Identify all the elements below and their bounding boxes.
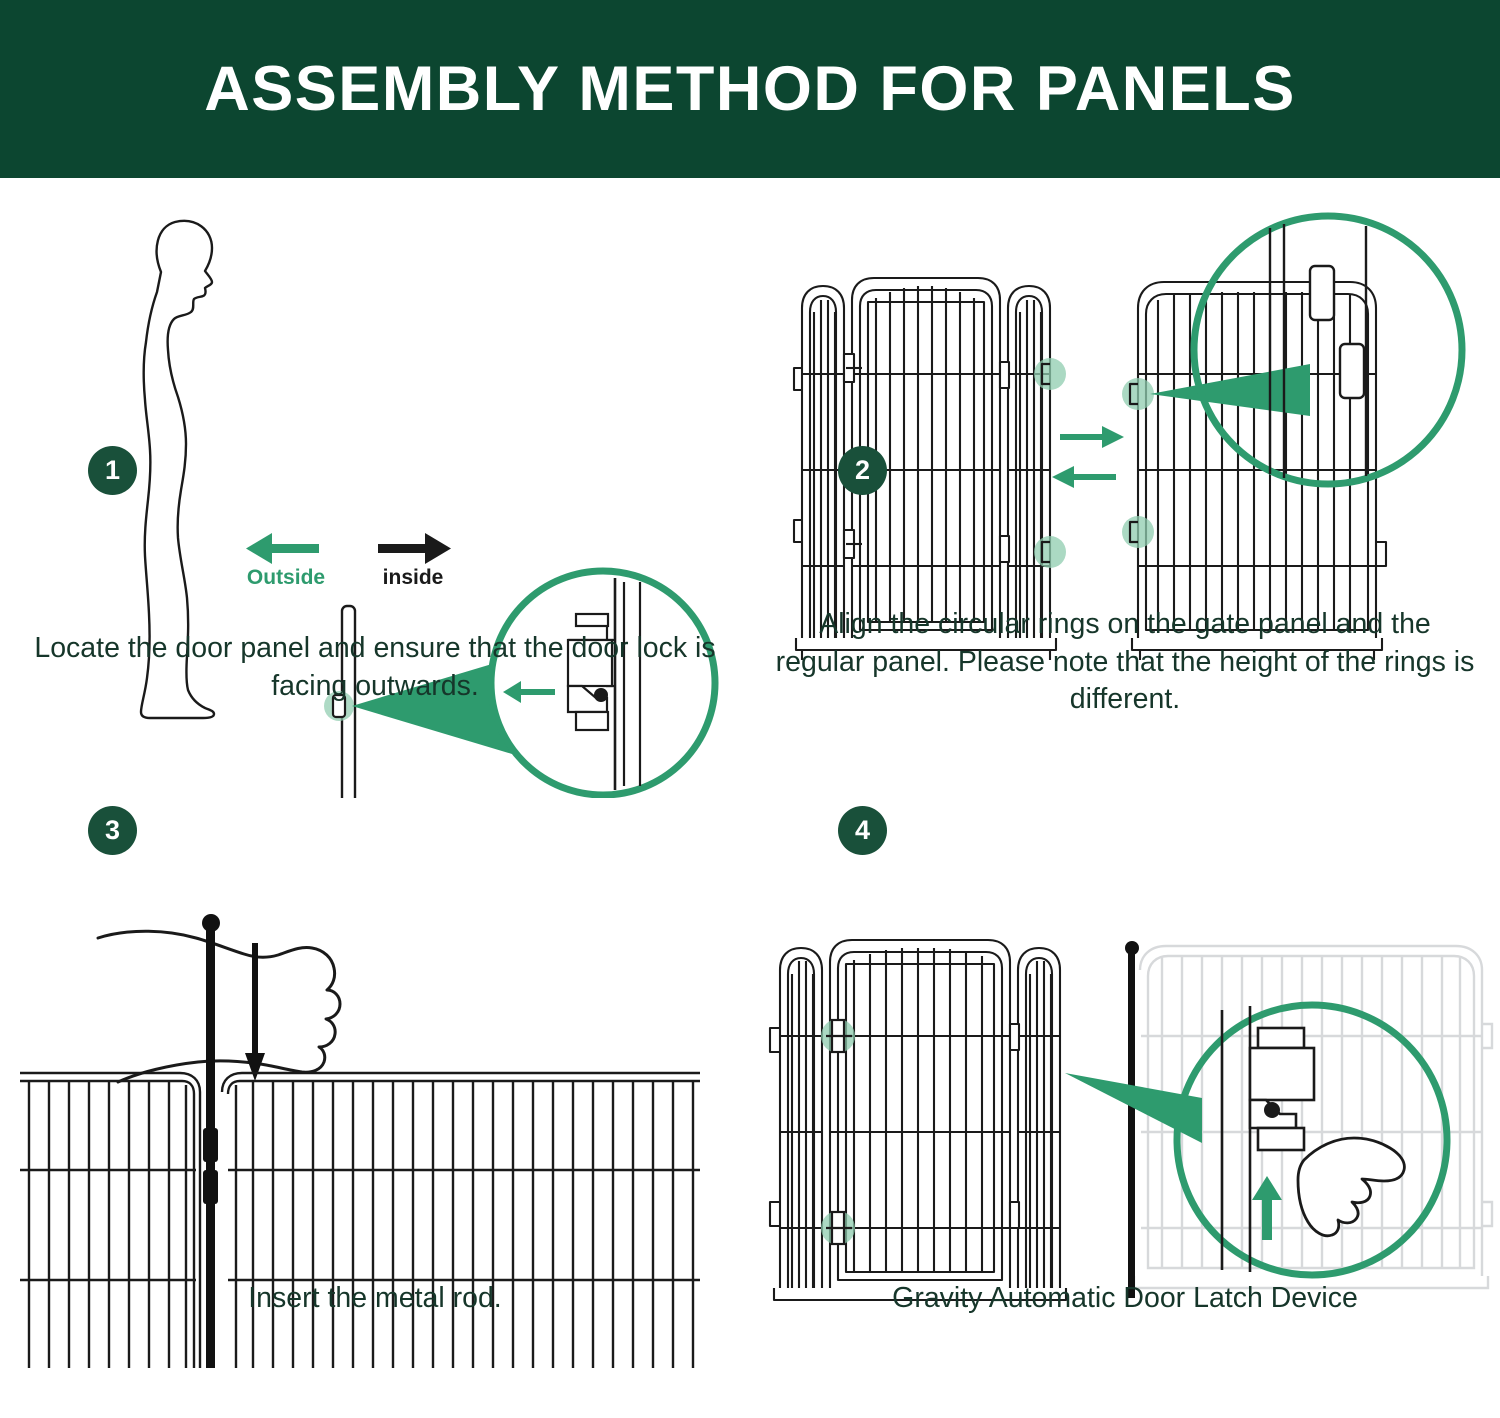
- step-3-caption: Insert the metal rod.: [25, 1280, 725, 1318]
- step-2-caption: Align the circular rings on the gate pan…: [775, 606, 1475, 719]
- ring-highlight-bottom: [821, 1211, 855, 1245]
- ring-highlight-bottom-right: [1122, 516, 1154, 548]
- step-number-badge-2: 2: [838, 446, 887, 495]
- step-number-badge-4: 4: [838, 806, 887, 855]
- step-3-illustration: [0, 798, 750, 1418]
- step-panel-1: 1: [0, 178, 750, 798]
- step-4-illustration: [750, 798, 1500, 1418]
- ring-highlight-top-right: [1122, 378, 1154, 410]
- step-panel-2: 2: [750, 178, 1500, 798]
- pointing-hand: [1298, 1138, 1404, 1236]
- arrow-right-black: [378, 533, 451, 564]
- arrow-left-green: [1052, 466, 1116, 488]
- ring-highlight-top: [821, 1019, 855, 1053]
- step-number-badge-3: 3: [88, 806, 137, 855]
- magnifier-circle: [1177, 1005, 1447, 1275]
- gate-panel-assembly: [794, 278, 1056, 660]
- hand-gripping-rod: [98, 931, 340, 1082]
- label-inside: inside: [378, 566, 448, 590]
- metal-rod: [1125, 941, 1139, 1298]
- magnifier-circle: [1194, 216, 1462, 484]
- arrow-up-green: [1252, 1176, 1282, 1240]
- step-1-caption: Locate the door panel and ensure that th…: [25, 630, 725, 705]
- gate-panel-assembly: [770, 940, 1066, 1300]
- metal-rod-lower: [206, 1068, 215, 1368]
- arrow-left-green: [246, 533, 319, 564]
- label-outside: Outside: [246, 566, 326, 590]
- arrow-right-green: [1060, 426, 1124, 448]
- wire-fence-panels: [20, 1073, 700, 1368]
- step-panel-3: 3: [0, 798, 750, 1418]
- ring-highlight-bottom-left: [1034, 536, 1066, 568]
- header-banner: ASSEMBLY METHOD FOR PANELS: [0, 0, 1500, 178]
- steps-grid: 1: [0, 178, 1500, 1418]
- step-panel-4: 4: [750, 798, 1500, 1418]
- page-title: ASSEMBLY METHOD FOR PANELS: [204, 53, 1295, 125]
- ring-highlight-top-left: [1034, 358, 1066, 390]
- step-4-caption: Gravity Automatic Door Latch Device: [775, 1280, 1475, 1318]
- step-number-badge-1: 1: [88, 446, 137, 495]
